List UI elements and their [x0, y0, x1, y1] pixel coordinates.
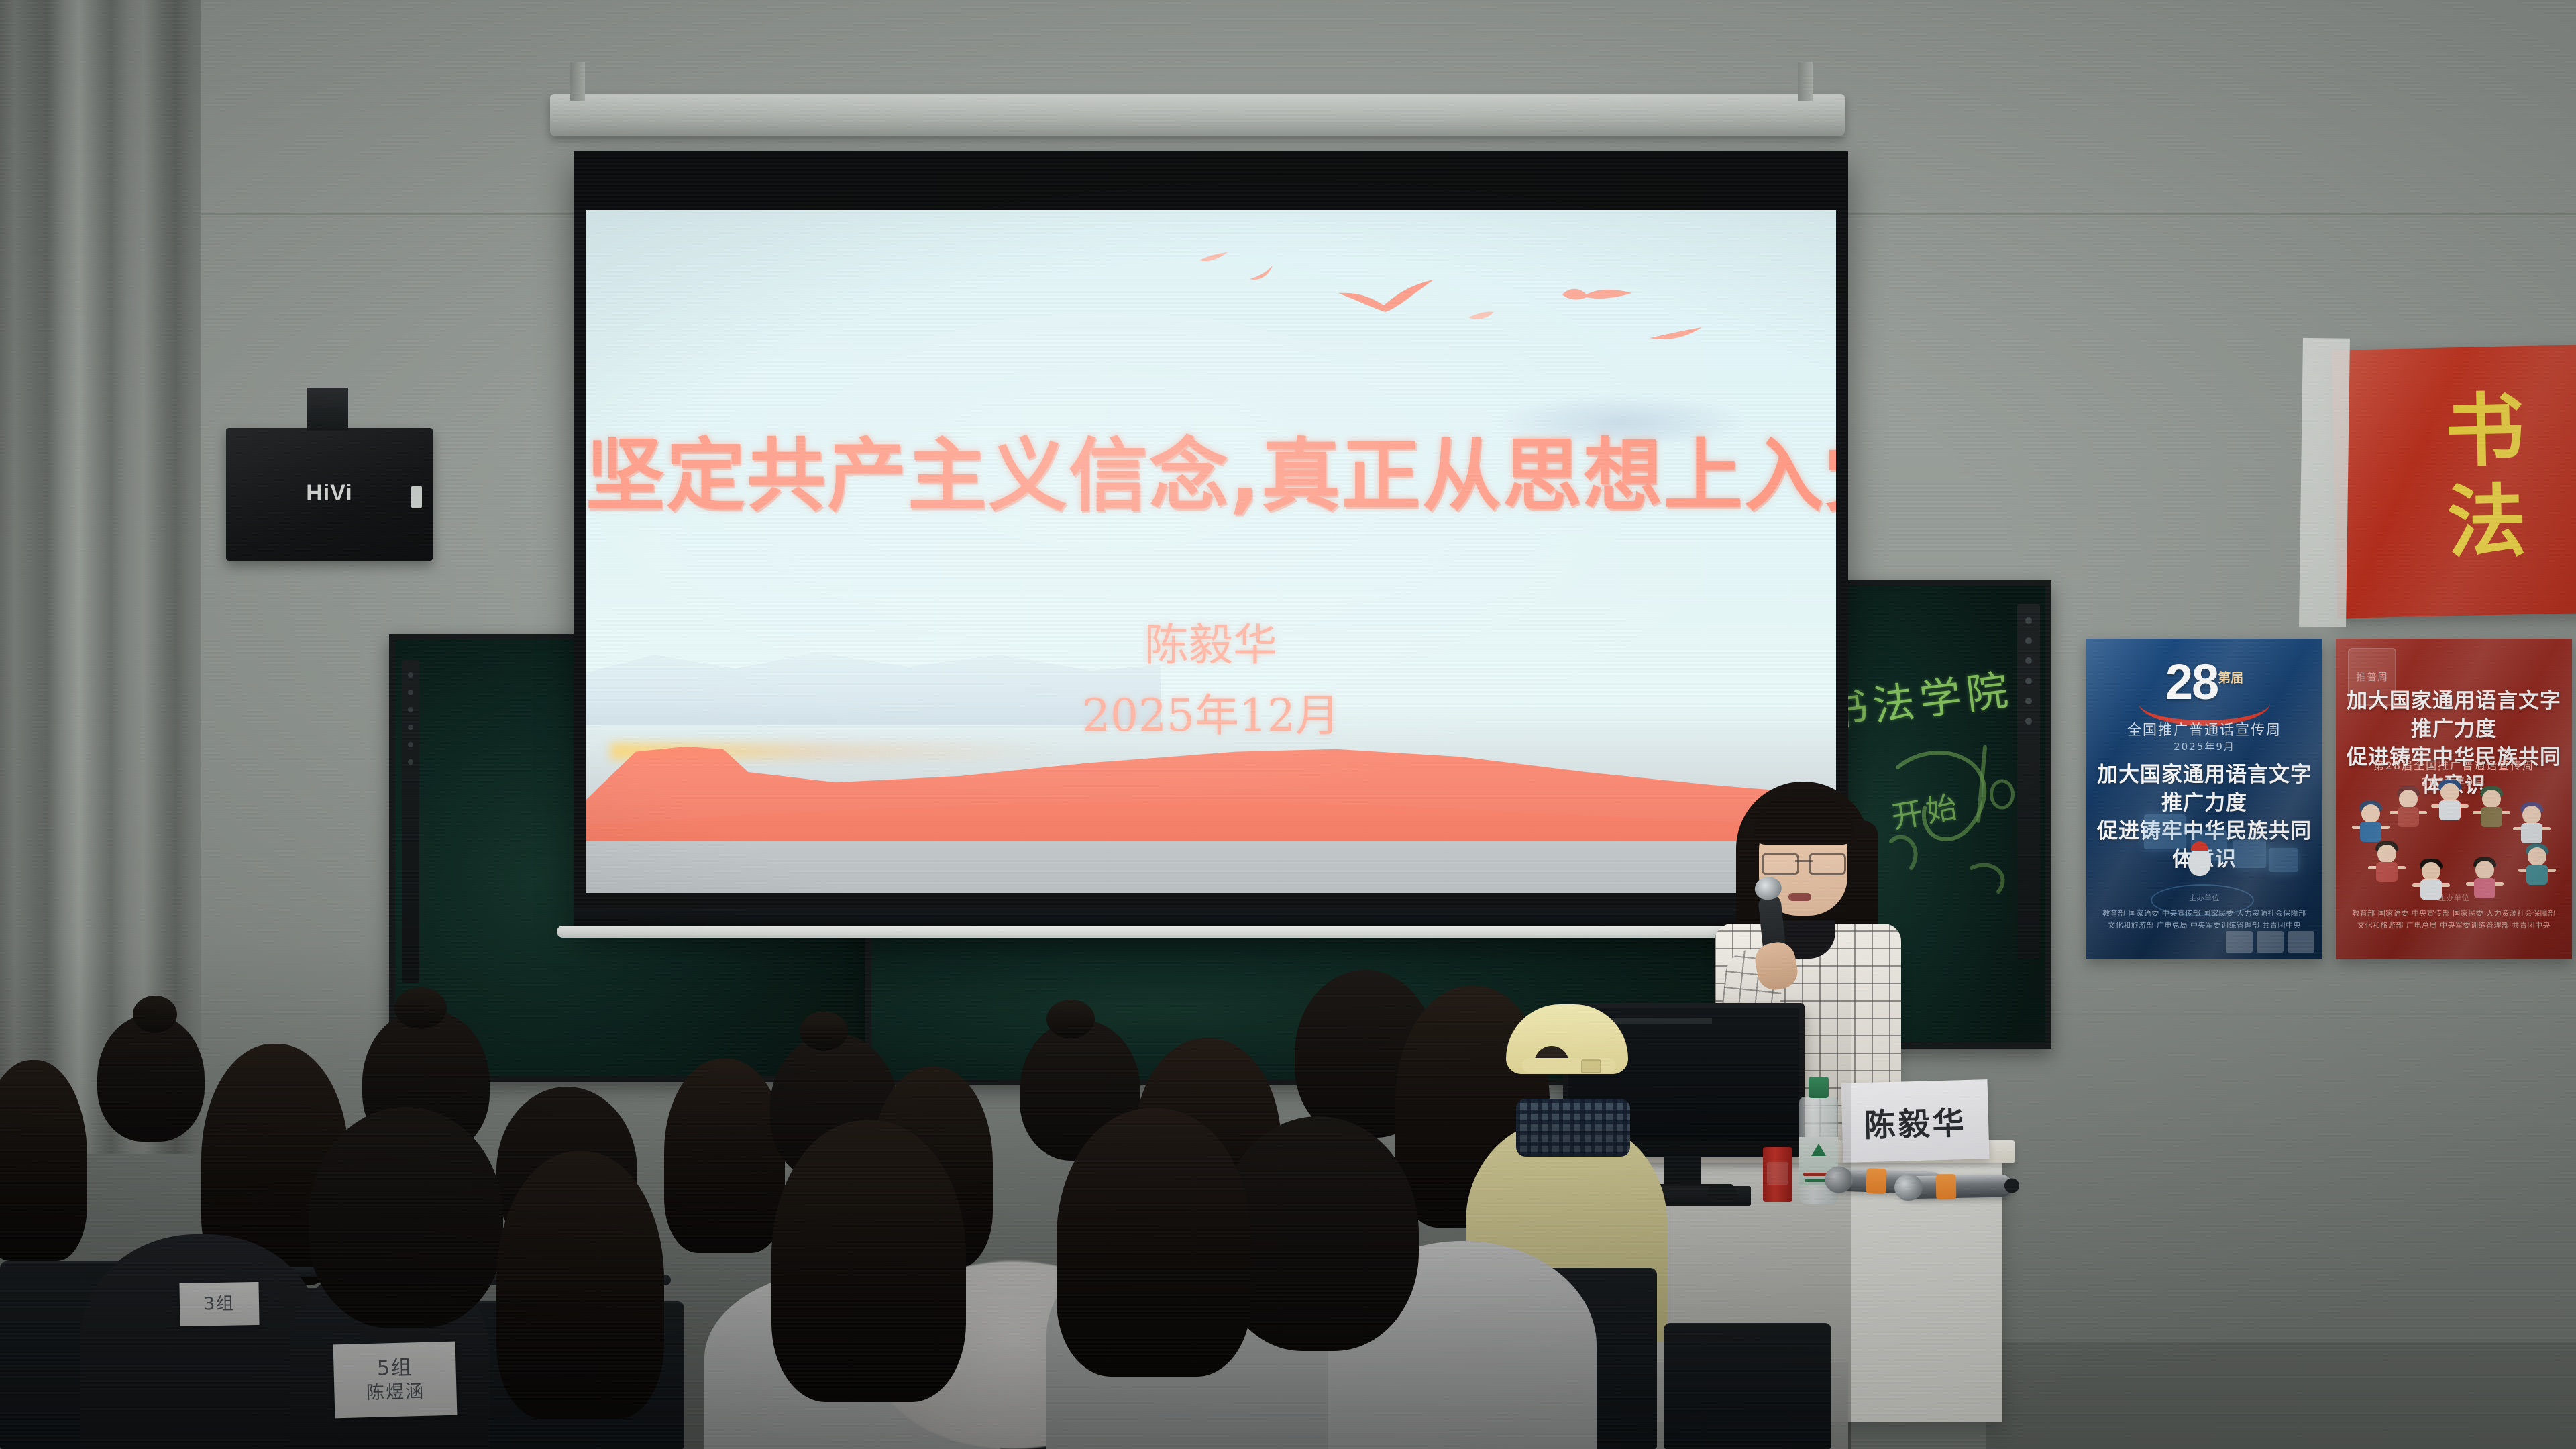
lecture-hall-photo: HiVi 书法学院 开始 [0, 0, 2576, 1449]
audience-hair-bun [800, 1012, 848, 1051]
glasses-icon [1762, 853, 1846, 873]
screen-pull-bar[interactable] [557, 926, 1784, 938]
presenter-fringe [1754, 796, 1854, 845]
audience-member-jacket [80, 1234, 322, 1449]
bird-icon [1561, 285, 1635, 308]
blackboard-control-strip-left[interactable] [402, 660, 419, 983]
microphone-orange-band [1866, 1168, 1886, 1194]
audience-hair-bun [1046, 1000, 1095, 1038]
slide-title: 坚定共产主义信念,真正从思想上入党 [586, 411, 1836, 526]
speaker-brand-label: HiVi [226, 480, 433, 506]
poster-mandarin-week-red: 推普周 加大国家通用语言文字推广力度 促进铸牢中华民族共同体意识 第28届全国推… [2336, 639, 2572, 959]
microphone-head-icon [1894, 1174, 1923, 1201]
audience-member [496, 1151, 664, 1419]
slide-surface: 坚定共产主义信念,真正从思想上入党 陈毅华 2025年12月 [586, 210, 1836, 893]
speaker-led-indicator [411, 486, 422, 508]
audience-member [97, 1014, 205, 1142]
projection-screen-housing [550, 94, 1845, 136]
calligraphy-banner: 书法 [2332, 345, 2576, 619]
audience-member [771, 1120, 966, 1402]
microphone-orange-band [1936, 1174, 1957, 1200]
blackboard-control-strip-right[interactable] [2017, 604, 2040, 959]
poster-organizers-line2: 文化和旅游部 广电总局 中央军委训练管理部 共青团中央 [2108, 921, 2301, 930]
bird-icon [1648, 326, 1705, 343]
audience-hair-bun [394, 987, 447, 1029]
slide-bottom-band [586, 841, 1836, 893]
seat-card-group: 3组 [203, 1293, 235, 1315]
poster-organizers-head: 主办单位 [2094, 892, 2314, 905]
poster-mandarin-week-blue: 28第届 全国推广普通话宣传周 2025年9月 加大国家通用语言文字推广力度 促… [2086, 639, 2322, 959]
bird-icon [1336, 278, 1436, 317]
poster-subtitle-line1: 第28届全国推广普通话宣传周 [2336, 758, 2572, 774]
audience-member [664, 1059, 785, 1253]
poster-organizers-line1: 教育部 国家语委 中央宣传部 国家民委 人力资源社会保障部 [2352, 909, 2556, 918]
audience-member [0, 1060, 87, 1261]
poster-organizers-line1: 教育部 国家语委 中央宣传部 国家民委 人力资源社会保障部 [2102, 909, 2306, 918]
seat-card-name: 陈煜涵 [366, 1381, 425, 1405]
poster-children-circle-illustration [2353, 783, 2555, 904]
bird-icon [1198, 251, 1230, 264]
seat-card-group: 5组 [377, 1356, 413, 1382]
presenter-name-card: 陈毅华 [1841, 1079, 1989, 1163]
bird-icon [1248, 264, 1295, 284]
poster-week-title: 全国推广普通话宣传周 [2086, 719, 2322, 739]
poster-number: 28第届 [2086, 653, 2322, 710]
poster-organizers-head: 主办单位 [2344, 892, 2564, 905]
presenter-mouth [1788, 893, 1811, 901]
poster-number-value: 28 [2165, 654, 2218, 710]
wall-speaker: HiVi [226, 428, 433, 561]
poster-date: 2025年9月 [2086, 739, 2322, 753]
wall-baseboard [1986, 1342, 2576, 1449]
slide-date: 2025年12月 [586, 680, 1836, 744]
housing-bracket-left [570, 62, 585, 101]
poster-organizers: 主办单位 教育部 国家语委 中央宣传部 国家民委 人力资源社会保障部 文化和旅游… [2344, 892, 2564, 932]
poster-slogan-line1: 加大国家通用语言文字推广力度 [2343, 687, 2565, 743]
screen-top-band [574, 151, 1848, 210]
cap-buckle [1581, 1059, 1601, 1073]
banner-sheen [2332, 345, 2576, 619]
seat-card: 3组 [179, 1282, 259, 1326]
poster-organizers-line2: 文化和旅游部 广电总局 中央军委训练管理部 共青团中央 [2357, 921, 2551, 930]
housing-bracket-right [1798, 62, 1813, 101]
plaid-scarf [1516, 1099, 1630, 1157]
poster-organizers: 主办单位 教育部 国家语委 中央宣传部 国家民委 人力资源社会保障部 文化和旅游… [2094, 892, 2314, 932]
poster-logo-row [2226, 931, 2314, 953]
cap-strap [1522, 1058, 1616, 1073]
speaker-mount-bracket [307, 388, 348, 431]
audience-member [309, 1107, 503, 1328]
seat-card: 5组 陈煜涵 [333, 1342, 458, 1419]
poster-number-sup: 第届 [2218, 671, 2243, 685]
projection-screen: 坚定共产主义信念,真正从思想上入党 陈毅华 2025年12月 [574, 151, 1848, 929]
yellow-baseball-cap [1506, 1004, 1638, 1083]
audience-member [1057, 1108, 1251, 1377]
bird-icon [1467, 309, 1502, 324]
poster-mascot-icon [2188, 848, 2211, 876]
desk-microphone[interactable] [1898, 1175, 2013, 1199]
audience-hair-bun [133, 996, 177, 1033]
slide-author: 陈毅华 [586, 609, 1836, 674]
name-card-text: 陈毅华 [1864, 1097, 1968, 1146]
auditorium-chair[interactable] [1664, 1323, 1831, 1449]
